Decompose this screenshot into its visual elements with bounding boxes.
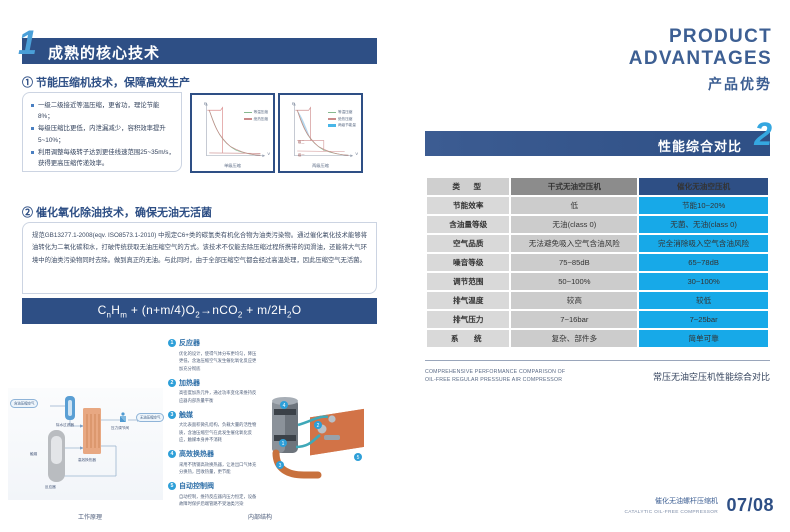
- caption-en-line2: OIL-FREE REGULAR PRESSURE AIR COMPRESSOR: [425, 376, 625, 384]
- reactor-assembly-drawing: 4 1 2 3 5: [262, 395, 390, 503]
- caption-divider: [425, 360, 770, 361]
- legend-swatch-icon: [328, 124, 336, 126]
- cell-dry: 75~85dB: [511, 254, 637, 271]
- page-title: PRODUCT ADVANTAGES 产品优势: [629, 26, 772, 94]
- list-item: 利用调整每级转子达到更佳线速范围25~35m/s，获得更高压缩传递效率。: [31, 147, 175, 169]
- left-column: 1 成熟的核心技术 ① 节能压缩机技术，保障高效生产 一级二级接近等温压缩，更省…: [0, 0, 400, 532]
- comparison-table: 类 型 干式无油空压机 催化无油空压机 节能效率 低 节能10~20% 含油量等…: [425, 176, 770, 349]
- row-label: 排气压力: [427, 311, 509, 328]
- legend-label: 等温压缩: [254, 110, 268, 115]
- chart1-caption: 单级压缩: [194, 163, 271, 169]
- cell-dry: 复杂、部件多: [511, 330, 637, 347]
- legend-entry: 两级节能量: [328, 123, 356, 128]
- section2-title: 性能综合对比: [658, 136, 742, 155]
- chart2-y-axis-label: P: [292, 101, 295, 106]
- chart-two-stage: P V 级二 级一 等温压缩 绝热压缩 两级节能量: [278, 93, 363, 173]
- legend-entry: 绝热压缩: [328, 117, 356, 122]
- chart2-legend: 等温压缩 绝热压缩 两级节能量: [328, 110, 356, 130]
- section1-title: 成熟的核心技术: [48, 42, 160, 63]
- footer-title-en: CATALYTIC OIL-FREE COMPRESSOR: [625, 510, 718, 515]
- item-number-badge: 1: [168, 339, 176, 347]
- pv-diagram-single: [194, 97, 271, 169]
- list-item: 2 加热器 高密度加热元件，通过功率变化来维持反应器内部热量平衡: [168, 378, 260, 405]
- cell-dry: 50~100%: [511, 273, 637, 290]
- legend-label: 绝热压缩: [338, 117, 352, 122]
- table-row: 排气压力 7~16bar 7~25bar: [427, 311, 768, 328]
- item-title: 自动控制阀: [179, 481, 214, 491]
- subsection2-heading: ② 催化氧化除油技术，确保无油无活菌: [22, 204, 212, 220]
- svg-text:3: 3: [279, 463, 282, 469]
- cell-catalytic: 65~78dB: [639, 254, 768, 271]
- caption-en: COMPREHENSIVE PERFORMANCE COMPARISON OF …: [425, 368, 625, 385]
- row-label: 含油量等级: [427, 216, 509, 233]
- pv-diagram-two-stage: [282, 97, 359, 169]
- flow-label-reactor: 反应器: [45, 485, 56, 490]
- legend-swatch-icon: [244, 112, 252, 113]
- legend-entry: 绝热压缩: [244, 117, 268, 122]
- cell-catalytic: 30~100%: [639, 273, 768, 290]
- chart2-stage2-label: 级二: [298, 139, 305, 144]
- title-cn: 产品优势: [629, 74, 772, 94]
- svg-text:4: 4: [283, 403, 286, 409]
- caption-working-principle: 工作原理: [50, 512, 130, 521]
- list-item: 一级二级接近等温压缩，更省功，理论节能8%；: [31, 100, 175, 122]
- cell-dry: 无法避免吸入空气含油风险: [511, 235, 637, 252]
- svg-text:5: 5: [357, 455, 360, 461]
- cell-catalytic: 完全消除吸入空气含油风险: [639, 235, 768, 252]
- title-en-line2: ADVANTAGES: [629, 48, 772, 70]
- chart2-x-axis-label: V: [355, 151, 358, 156]
- bullets-panel: 一级二级接近等温压缩，更省功，理论节能8%； 每级压缩比更低，内泄漏减少，容积效…: [22, 92, 182, 172]
- component-list: 1 反应器 优化的设计，使得气体分布更均匀，降压更低，含油压缩空气发生催化氧化反…: [168, 338, 260, 513]
- item-title: 触媒: [179, 410, 193, 420]
- bullet-list: 一级二级接近等温压缩，更省功，理论节能8%； 每级压缩比更低，内泄漏减少，容积效…: [23, 93, 181, 169]
- chart-single-stage: P V 等温压缩 绝热压缩 单级压缩: [190, 93, 275, 173]
- row-label: 噪音等级: [427, 254, 509, 271]
- legend-label: 绝热压缩: [254, 117, 268, 122]
- list-item: 4 高效换热器 采用不锈钢高效换热器，让进出口气体充分换热，回收热量，更节能: [168, 449, 260, 476]
- table-row: 含油量等级 无油(class 0) 无菌、无油(class 0): [427, 216, 768, 233]
- item-description: 大比表面积微孔结构，负载大量的活性物质，含油压缩空气在此发生催化氧化反应，触媒本…: [168, 421, 260, 444]
- cell-dry: 较高: [511, 292, 637, 309]
- row-label: 系 统: [427, 330, 509, 347]
- list-item: 每级压缩比更低，内泄漏减少，容积效率提升5~10%；: [31, 123, 175, 145]
- column-header-dry: 干式无油空压机: [511, 178, 637, 195]
- row-label: 空气品质: [427, 235, 509, 252]
- list-item: 5 自动控制阀 自动控制，维持反应器内压力恒定，设备故障时保护后端管路不受油类污…: [168, 481, 260, 508]
- table-row: 空气品质 无法避免吸入空气含油风险 完全消除吸入空气含油风险: [427, 235, 768, 252]
- section2-number: 2: [754, 118, 772, 150]
- item-title: 高效换热器: [179, 449, 214, 459]
- chart2-caption: 两级压缩: [282, 163, 359, 169]
- table-row: 噪音等级 75~85dB 65~78dB: [427, 254, 768, 271]
- chart1-y-axis-label: P: [204, 101, 207, 106]
- row-label: 排气温度: [427, 292, 509, 309]
- item-number-badge: 4: [168, 450, 176, 458]
- item-number-badge: 3: [168, 411, 176, 419]
- legend-entry: 等温压缩: [244, 110, 268, 115]
- cell-dry: 无油(class 0): [511, 216, 637, 233]
- product-illustration: 4 1 2 3 5: [262, 395, 390, 503]
- page-number: 07/08: [726, 495, 774, 516]
- cell-catalytic: 无菌、无油(class 0): [639, 216, 768, 233]
- svg-text:2: 2: [317, 423, 320, 429]
- cell-catalytic: 简单可靠: [639, 330, 768, 347]
- table-row: 调节范围 50~100% 30~100%: [427, 273, 768, 290]
- table-row: 排气温度 较高 较低: [427, 292, 768, 309]
- item-description: 采用不锈钢高效换热器，让进出口气体充分换热，回收热量，更节能: [168, 461, 260, 476]
- cell-catalytic: 节能10~20%: [639, 197, 768, 214]
- subsection1-heading: ① 节能压缩机技术，保障高效生产: [22, 74, 190, 90]
- flow-label-valve: 压力调节阀: [111, 426, 129, 431]
- item-description: 优化的设计，使得气体分布更均匀，降压更低，含油压缩空气发生催化氧化反应更加充分彻…: [168, 350, 260, 373]
- item-description: 高密度加热元件，通过功率变化来维持反应器内部热量平衡: [168, 389, 260, 404]
- row-label: 节能效率: [427, 197, 509, 214]
- column-header-catalytic: 催化无油空压机: [639, 178, 768, 195]
- title-en-line1: PRODUCT: [629, 26, 772, 48]
- item-number-badge: 2: [168, 379, 176, 387]
- right-column: PRODUCT ADVANTAGES 产品优势 2 性能综合对比 类 型 干式无…: [400, 0, 790, 532]
- brochure-page: 1 成熟的核心技术 ① 节能压缩机技术，保障高效生产 一级二级接近等温压缩，更省…: [0, 0, 790, 532]
- flow-label-catalyst: 触媒: [30, 452, 37, 457]
- chart2-stage1-label: 级一: [298, 152, 305, 157]
- caption-internal-structure: 内部结构: [210, 512, 310, 521]
- caption-cn: 常压无油空压机性能综合对比: [653, 370, 770, 383]
- flow-node-outlet: 无油压缩空气: [136, 414, 164, 419]
- legend-label: 两级节能量: [338, 123, 356, 128]
- cell-catalytic: 较低: [639, 292, 768, 309]
- list-item: 1 反应器 优化的设计，使得气体分布更均匀，降压更低，含油压缩空气发生催化氧化反…: [168, 338, 260, 372]
- section1-number: 1: [18, 26, 37, 60]
- caption-en-line1: COMPREHENSIVE PERFORMANCE COMPARISON OF: [425, 368, 625, 376]
- item-number-badge: 5: [168, 482, 176, 490]
- table-row: 系 统 复杂、部件多 简单可靠: [427, 330, 768, 347]
- chart1-x-axis-label: V: [267, 151, 270, 156]
- item-title: 加热器: [179, 378, 200, 388]
- legend-swatch-icon: [328, 118, 336, 119]
- legend-entry: 等温压缩: [328, 110, 356, 115]
- flow-label-heat-exchanger: 高效换热器: [78, 458, 96, 463]
- column-header-type: 类 型: [427, 178, 509, 195]
- cell-dry: 7~16bar: [511, 311, 637, 328]
- table-row: 节能效率 低 节能10~20%: [427, 197, 768, 214]
- item-title: 反应器: [179, 338, 200, 348]
- list-item: 3 触媒 大比表面积微孔结构，负载大量的活性物质，含油压缩空气在此发生催化氧化反…: [168, 410, 260, 444]
- process-flow-diagram: 含油压缩空气 无油压缩空气 除水过滤器 高效换热器 压力调节阀 触媒 反应器: [8, 388, 163, 500]
- chart1-legend: 等温压缩 绝热压缩: [244, 110, 268, 123]
- table-header-row: 类 型 干式无油空压机 催化无油空压机: [427, 178, 768, 195]
- body-paragraph: 规范GB13277.1-2008(eqv. ISO8573.1-2010) 中规…: [23, 223, 376, 274]
- chemical-formula-band: CnHm + (n+m/4)O2→nCO2 + m/2H2O: [22, 298, 377, 324]
- row-label: 调节范围: [427, 273, 509, 290]
- flow-node-inlet: 含油压缩空气: [10, 400, 38, 405]
- legend-swatch-icon: [328, 112, 336, 113]
- legend-label: 等温压缩: [338, 110, 352, 115]
- chemical-formula: CnHm + (n+m/4)O2→nCO2 + m/2H2O: [98, 303, 302, 319]
- item-description: 自动控制，维持反应器内压力恒定，设备故障时保护后端管路不受油类污染: [168, 493, 260, 508]
- svg-text:1: 1: [282, 441, 285, 447]
- paragraph-panel: 规范GB13277.1-2008(eqv. ISO8573.1-2010) 中规…: [22, 222, 377, 294]
- footer-title-cn: 催化无油螺杆压缩机: [655, 496, 718, 506]
- flow-label-filter: 除水过滤器: [56, 423, 74, 428]
- legend-swatch-icon: [244, 118, 252, 119]
- cell-dry: 低: [511, 197, 637, 214]
- cell-catalytic: 7~25bar: [639, 311, 768, 328]
